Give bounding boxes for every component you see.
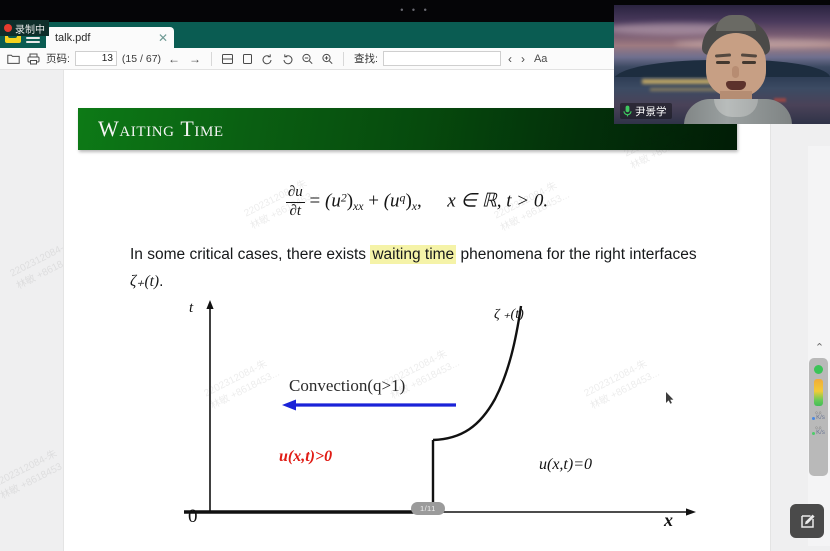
eye-left xyxy=(716,61,730,64)
equation-domain: x ∈ ℝ, t > 0. xyxy=(447,191,548,212)
document-viewport[interactable]: 2202312084-朱林敏 +8618453... 2202312084-朱林… xyxy=(0,70,830,551)
equals-sign: = xyxy=(310,191,321,212)
prev-page-button[interactable]: ← xyxy=(166,52,182,66)
pen-icon xyxy=(799,513,816,530)
webcam-overlay[interactable]: 尹景学 xyxy=(614,5,830,124)
interface-symbol: ζ₊(t) xyxy=(130,273,159,290)
waiting-time-diagram: t x 0 ζ ₊(t) Convection(q>1) u(x,t)>0 u(… xyxy=(184,298,704,546)
tab-title: talk.pdf xyxy=(55,32,90,44)
printer-icon[interactable] xyxy=(26,51,41,66)
plus-sign: + xyxy=(368,191,379,212)
eye-right xyxy=(742,61,756,64)
find-next-button[interactable]: › xyxy=(519,52,527,66)
download-dot-icon xyxy=(812,432,815,435)
paragraph-text-part1: In some critical cases, there exists xyxy=(130,246,370,263)
network-monitor-widget[interactable]: 0.0 K/s 0.0 K/s xyxy=(809,358,828,476)
microphone-icon xyxy=(623,105,632,117)
upload-speed-unit: K/s xyxy=(812,415,825,421)
pdf-page: Waiting Time ∂u ∂t = (u2)xx + (uq)x, x ∈… xyxy=(64,70,770,551)
term1-subscript: xx xyxy=(353,200,363,213)
search-input[interactable] xyxy=(383,51,501,66)
page-title: Waiting Time xyxy=(78,116,224,142)
recording-label: 录制中 xyxy=(15,21,45,36)
mouth-shape xyxy=(726,81,746,90)
page-number-input[interactable] xyxy=(75,51,117,66)
y-axis-label: t xyxy=(189,300,193,317)
x-axis-label: x xyxy=(664,510,673,531)
origin-label: 0 xyxy=(188,506,198,528)
download-speed-row: 0.0 K/s xyxy=(812,426,825,436)
recording-dot-icon xyxy=(4,24,12,32)
torso-shading xyxy=(684,99,792,124)
mouse-cursor xyxy=(666,391,674,403)
toolbar-divider-2 xyxy=(343,52,344,66)
page-total-label: (15 / 67) xyxy=(122,53,161,65)
convection-label: Convection(q>1) xyxy=(289,376,405,396)
download-speed-unit: K/s xyxy=(812,430,825,436)
text-size-button[interactable]: Aa xyxy=(532,53,549,65)
rotate-left-icon[interactable] xyxy=(260,51,275,66)
rotate-right-icon[interactable] xyxy=(280,51,295,66)
equation-comma: , xyxy=(417,191,422,212)
top-dots-indicator: • • • xyxy=(400,6,429,15)
signal-gauge-icon xyxy=(814,379,823,406)
paragraph-text-part2: phenomena for the right interfaces xyxy=(456,246,696,263)
toolbar-divider-1 xyxy=(211,52,212,66)
zoom-in-icon[interactable] xyxy=(320,51,335,66)
folder-icon[interactable] xyxy=(6,51,21,66)
nose-shape xyxy=(732,66,739,78)
curve-label: ζ ₊(t) xyxy=(494,306,524,323)
upload-dot-icon xyxy=(812,417,815,420)
highlighted-phrase: waiting time xyxy=(370,245,456,264)
next-page-button[interactable]: → xyxy=(187,52,203,66)
find-prev-button[interactable]: ‹ xyxy=(506,52,514,66)
equation: ∂u ∂t = (u2)xx + (uq)x, x ∈ ℝ, t > 0. xyxy=(64,185,770,220)
close-icon[interactable]: ✕ xyxy=(158,32,168,44)
slide-counter-badge: 1/11 xyxy=(411,502,445,515)
single-page-icon[interactable] xyxy=(240,51,255,66)
find-label: 查找: xyxy=(354,51,378,66)
split-view-icon[interactable] xyxy=(220,51,235,66)
chevron-up-icon[interactable]: ⌃ xyxy=(813,342,826,355)
speaker-name: 尹景学 xyxy=(635,104,667,119)
watermark: 2202312084-朱林敏 +8618453... xyxy=(0,444,72,503)
term1-base: (u xyxy=(325,191,341,212)
zoom-out-icon[interactable] xyxy=(300,51,315,66)
speaker-video xyxy=(686,19,790,124)
annotate-button[interactable] xyxy=(790,504,824,538)
recording-indicator: 录制中 xyxy=(0,20,49,36)
paragraph-period: . xyxy=(159,273,163,290)
speaker-nametag: 尹景学 xyxy=(620,103,672,119)
partial-derivative-fraction: ∂u ∂t xyxy=(286,185,305,220)
region-positive-label: u(x,t)>0 xyxy=(279,448,332,466)
term2-base: (u xyxy=(384,191,400,212)
tab-talk-pdf[interactable]: talk.pdf ✕ xyxy=(46,27,174,48)
page-number-label: 页码: xyxy=(46,51,70,66)
status-dot-icon xyxy=(814,365,823,374)
screen: • • • 录制中 talk.pdf ✕ 页码: xyxy=(0,0,830,551)
right-side-panel: ⌃ 0.0 K/s 0.0 K/s xyxy=(808,146,830,546)
region-zero-label: u(x,t)=0 xyxy=(539,456,592,474)
body-paragraph: In some critical cases, there exists wai… xyxy=(130,242,730,295)
upload-speed-row: 0.0 K/s xyxy=(812,411,825,421)
